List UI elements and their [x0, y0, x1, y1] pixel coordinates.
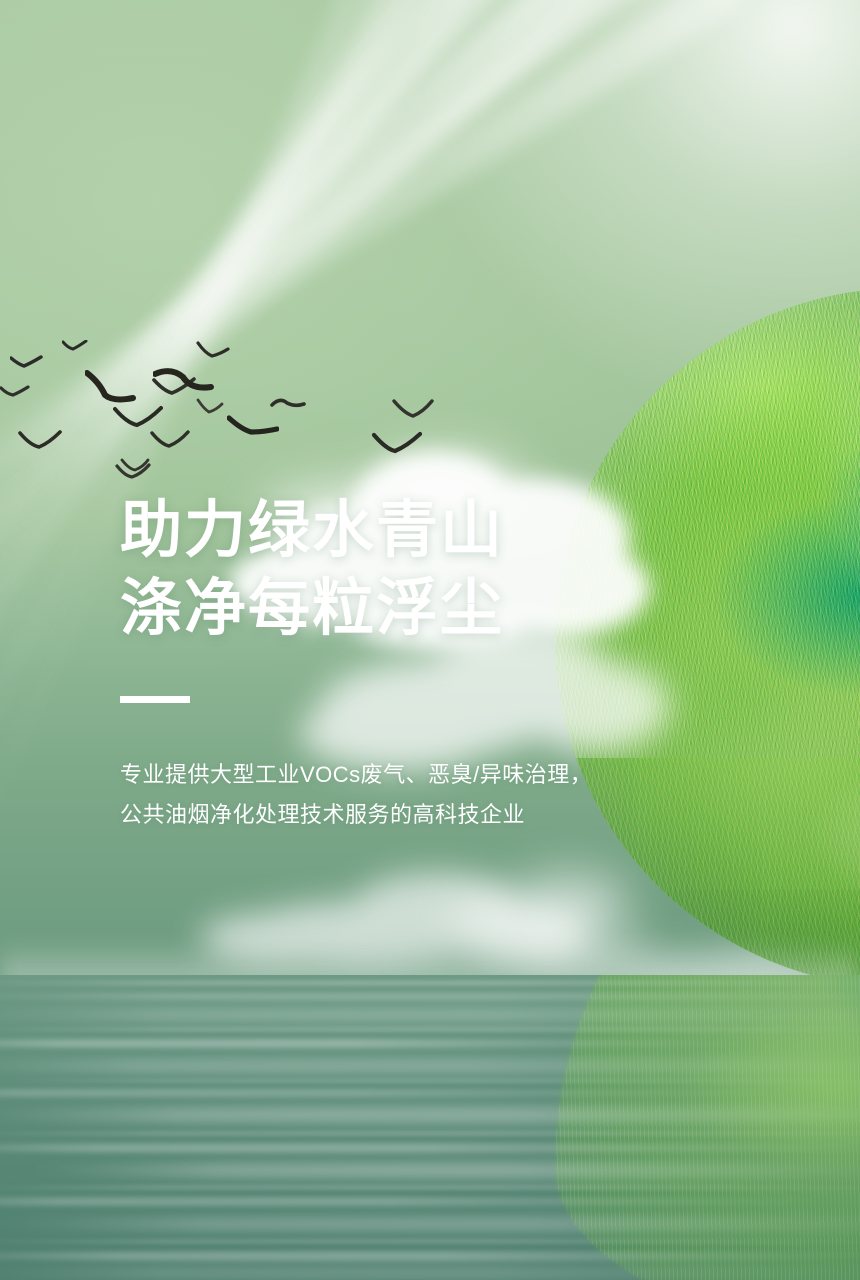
bird-icon	[10, 355, 44, 375]
bird-icon	[62, 340, 88, 356]
bird-icon	[372, 430, 422, 458]
water-surface	[0, 975, 860, 1280]
bird-icon	[120, 457, 150, 475]
bird-icon	[18, 430, 62, 454]
bird-icon	[196, 341, 230, 363]
bird-icon	[270, 395, 306, 417]
bird-icon	[0, 385, 30, 403]
globe-reflection-texture	[555, 975, 860, 1280]
bird-icon	[113, 405, 163, 433]
flying-birds-flock	[0, 335, 470, 465]
bird-icon	[392, 398, 434, 424]
banner-root: 助力绿水青山 涤净每粒浮尘 专业提供大型工业VOCs废气、恶臭/异味治理， 公共…	[0, 0, 860, 1280]
bird-icon	[85, 369, 137, 409]
bird-icon	[150, 430, 190, 452]
headline-line-2: 涤净每粒浮尘	[120, 570, 740, 648]
bird-icon	[196, 398, 224, 420]
divider	[120, 696, 190, 703]
headline-line-1: 助力绿水青山	[120, 492, 740, 570]
